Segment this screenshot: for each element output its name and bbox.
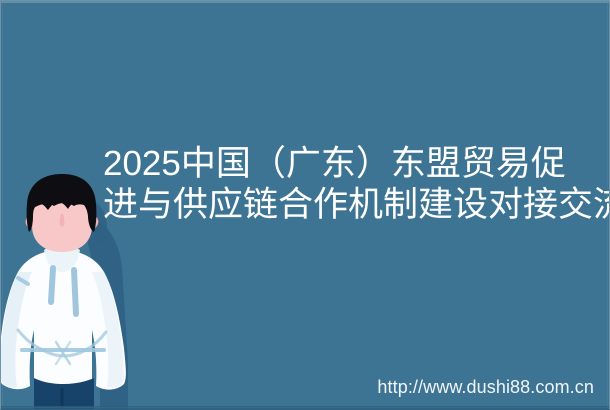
promo-banner: 2025中国（广东）东盟贸易促 进与供应链合作机制建设对接交流 http://w… — [0, 0, 610, 410]
top-edge-sheen — [0, 0, 610, 3]
headline-line-2: 进与供应链合作机制建设对接交流 — [103, 184, 603, 225]
headline-line-1: 2025中国（广东）东盟贸易促 — [103, 143, 603, 184]
bottom-edge-shade — [0, 406, 610, 410]
watermark-url: http://www.dushi88.com.cn — [377, 377, 594, 397]
banner-headline: 2025中国（广东）东盟贸易促 进与供应链合作机制建设对接交流 — [103, 143, 603, 225]
